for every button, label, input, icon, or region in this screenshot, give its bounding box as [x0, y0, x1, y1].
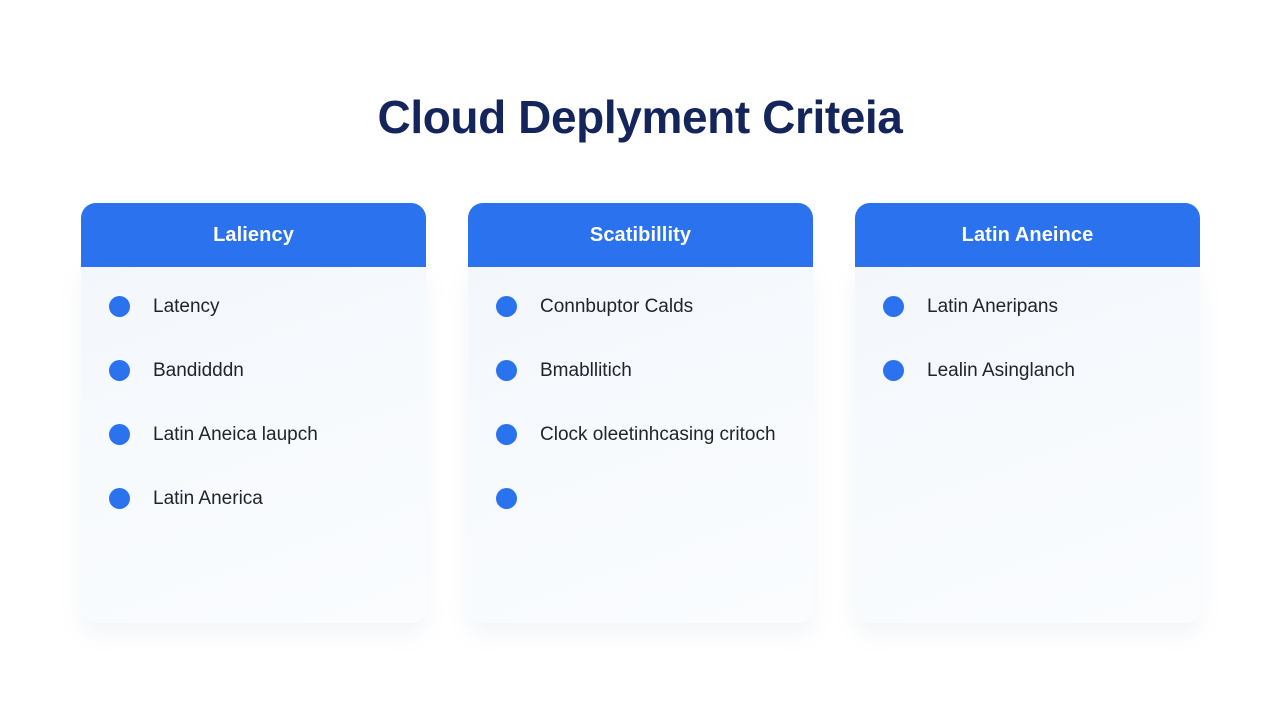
bullet-dot-icon: [883, 360, 904, 381]
card-body-2: Connbuptor Calds Bmabllitich Clock oleet…: [468, 267, 813, 623]
list-item[interactable]: Connbuptor Calds: [496, 294, 789, 320]
list-item-label: Bmabllitich: [540, 358, 632, 384]
bullet-dot-icon: [496, 488, 517, 509]
list-item[interactable]: Latin Aneica laupch: [109, 422, 402, 448]
card-title-3: Latin Aneince: [962, 224, 1094, 247]
bullet-dot-icon: [883, 296, 904, 317]
slide-canvas: Cloud Deplyment Criteia Laliency Latency…: [0, 0, 1280, 720]
bullet-dot-icon: [496, 424, 517, 445]
bullet-dot-icon: [109, 296, 130, 317]
criteria-card-1[interactable]: Laliency Latency Bandidddn Latin Aneica …: [81, 203, 426, 623]
list-item[interactable]: Latency: [109, 294, 402, 320]
list-item-label: Latin Aneica laupch: [153, 422, 318, 448]
list-item[interactable]: Bandidddn: [109, 358, 402, 384]
criteria-card-3[interactable]: Latin Aneince Latin Aneripans Lealin Asi…: [855, 203, 1200, 623]
bullet-list-3: Latin Aneripans Lealin Asinglanch: [883, 294, 1176, 384]
list-item[interactable]: Clock oleetinhcasing critoch: [496, 422, 789, 448]
bullet-list-2: Connbuptor Calds Bmabllitich Clock oleet…: [496, 294, 789, 509]
list-item[interactable]: Bmabllitich: [496, 358, 789, 384]
card-title-1: Laliency: [213, 224, 294, 247]
list-item-label: Connbuptor Calds: [540, 294, 693, 320]
criteria-card-row: Laliency Latency Bandidddn Latin Aneica …: [81, 203, 1200, 623]
bullet-list-1: Latency Bandidddn Latin Aneica laupch La…: [109, 294, 402, 512]
list-item[interactable]: Lealin Asinglanch: [883, 358, 1176, 384]
list-item-label: Latency: [153, 294, 220, 320]
criteria-card-2[interactable]: Scatibillity Connbuptor Calds Bmabllitic…: [468, 203, 813, 623]
card-header-3: Latin Aneince: [855, 203, 1200, 267]
list-item-label: Latin Anerica: [153, 486, 263, 512]
card-body-3: Latin Aneripans Lealin Asinglanch: [855, 267, 1200, 623]
card-header-1: Laliency: [81, 203, 426, 267]
list-item-label: Clock oleetinhcasing critoch: [540, 422, 776, 448]
card-header-2: Scatibillity: [468, 203, 813, 267]
bullet-dot-icon: [109, 424, 130, 445]
page-title: Cloud Deplyment Criteia: [0, 86, 1280, 148]
bullet-dot-icon: [109, 360, 130, 381]
list-item-label: Latin Aneripans: [927, 294, 1058, 320]
card-title-2: Scatibillity: [590, 224, 691, 247]
list-item[interactable]: Latin Aneripans: [883, 294, 1176, 320]
card-body-1: Latency Bandidddn Latin Aneica laupch La…: [81, 267, 426, 623]
list-item-label: Lealin Asinglanch: [927, 358, 1075, 384]
bullet-dot-icon: [109, 488, 130, 509]
bullet-dot-icon: [496, 360, 517, 381]
list-item[interactable]: Latin Anerica: [109, 486, 402, 512]
bullet-dot-icon: [496, 296, 517, 317]
list-item-label: Bandidddn: [153, 358, 244, 384]
list-item[interactable]: [496, 486, 789, 509]
